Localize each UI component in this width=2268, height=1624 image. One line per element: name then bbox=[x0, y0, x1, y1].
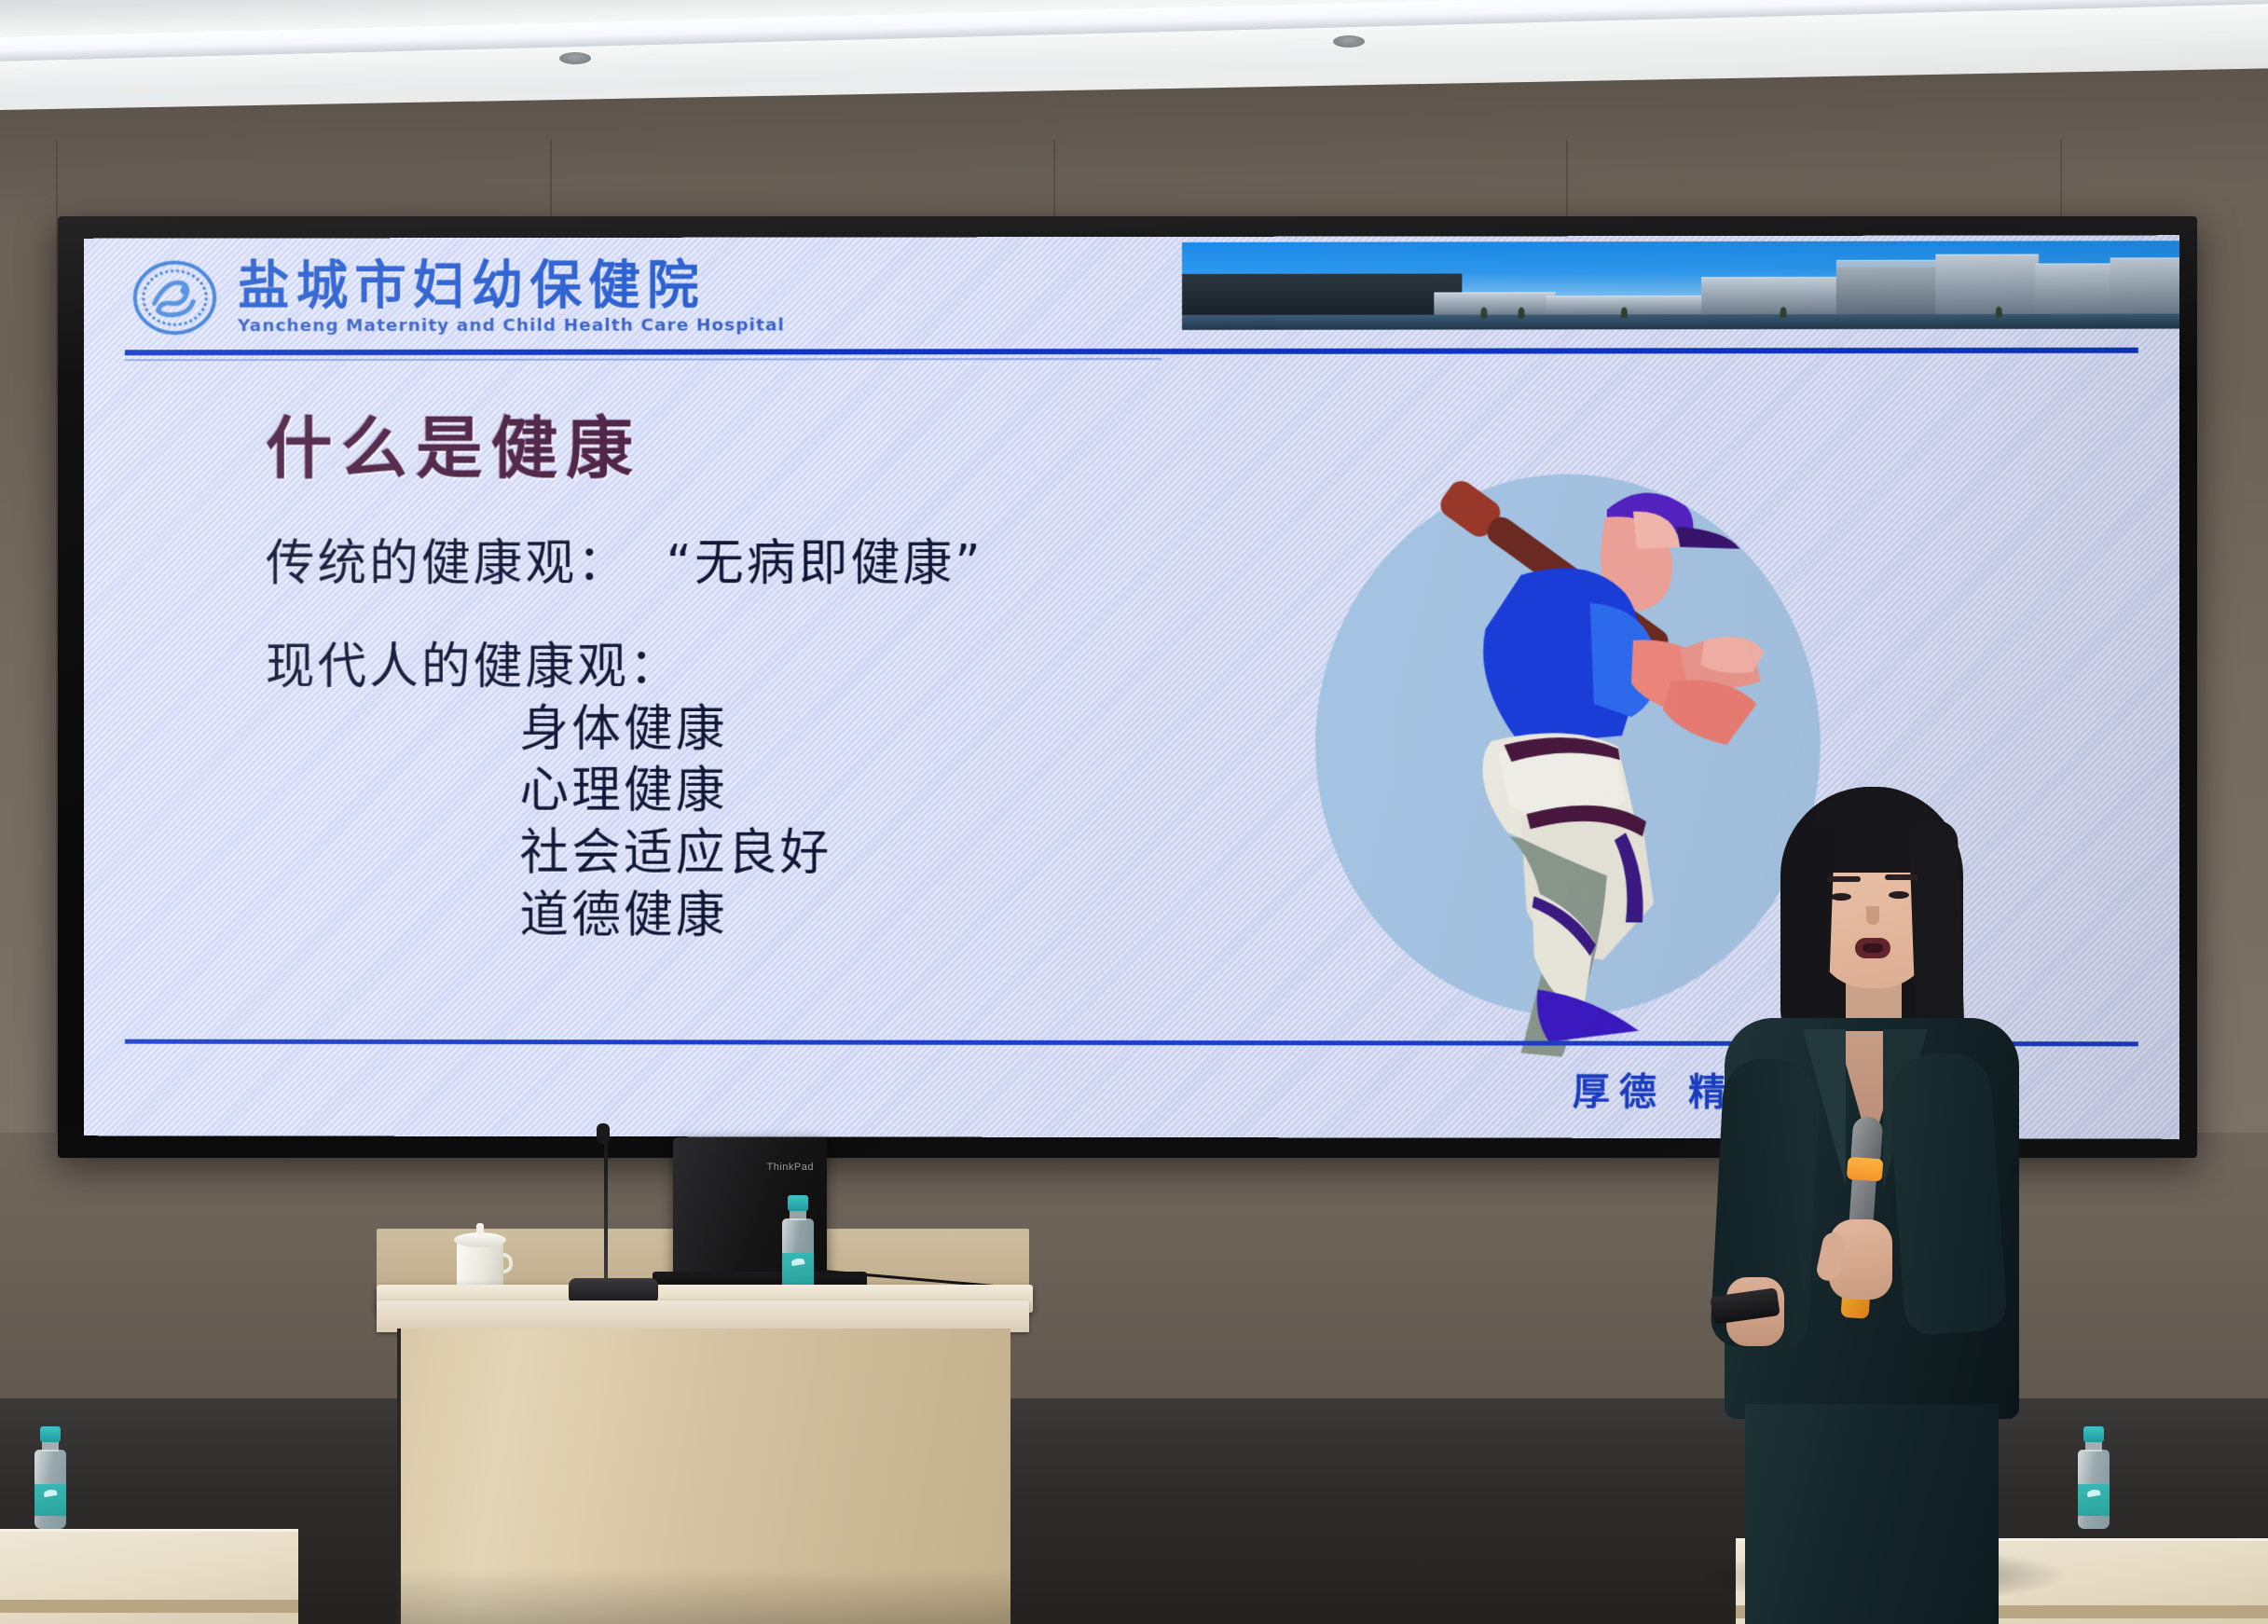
nose bbox=[1866, 906, 1879, 925]
body-line-traditional: 传统的健康观： “无病即健康” bbox=[266, 533, 983, 596]
presenter bbox=[1713, 774, 2030, 1624]
slide-title: 什么是健康 bbox=[266, 393, 641, 491]
conference-room-scene: 盐城市妇幼保健院 Yancheng Maternity and Child He… bbox=[0, 0, 2268, 1624]
ceiling-light-strip bbox=[0, 0, 2268, 62]
hospital-name-en: Yancheng Maternity and Child Health Care… bbox=[238, 316, 785, 337]
sub-item-social: 社会适应良好 bbox=[519, 823, 983, 886]
skirt bbox=[1745, 1404, 1999, 1624]
wooden-podium bbox=[377, 1301, 1029, 1624]
hospital-logo-icon bbox=[132, 255, 217, 340]
eyebrow-left bbox=[1827, 876, 1861, 882]
downlight-icon bbox=[559, 52, 591, 64]
gooseneck-mic-stem bbox=[604, 1133, 608, 1282]
hospital-name-cn: 盐城市妇幼保健院 bbox=[238, 258, 785, 314]
slide-body: 传统的健康观： “无病即健康” 现代人的健康观： 身体健康 心理健康 社会适应良… bbox=[266, 533, 983, 947]
sub-item-physical: 身体健康 bbox=[519, 699, 983, 762]
hospital-name-block: 盐城市妇幼保健院 Yancheng Maternity and Child He… bbox=[238, 258, 785, 337]
gooseneck-mic-head-icon bbox=[597, 1123, 610, 1144]
water-bottle bbox=[34, 1426, 67, 1529]
downlight-icon bbox=[1333, 35, 1365, 48]
attendee-desk-left-edge bbox=[0, 1600, 298, 1613]
header-divider bbox=[125, 348, 2138, 356]
eyebrow-right bbox=[1885, 874, 1918, 880]
mouth-inner bbox=[1863, 943, 1883, 953]
water-bottle bbox=[781, 1195, 815, 1298]
hospital-campus-photo bbox=[1182, 241, 2179, 330]
arm-right bbox=[1887, 1051, 2009, 1337]
eye-right bbox=[1889, 891, 1909, 899]
sub-item-mental: 心理健康 bbox=[519, 761, 983, 823]
water-bottle bbox=[2077, 1426, 2110, 1529]
eye-left bbox=[1831, 893, 1851, 901]
body-line-modern: 现代人的健康观： bbox=[266, 637, 983, 699]
sub-item-moral: 道德健康 bbox=[519, 885, 983, 947]
header-divider-secondary bbox=[125, 358, 1161, 361]
microphone-grille-icon bbox=[1850, 1116, 1883, 1163]
